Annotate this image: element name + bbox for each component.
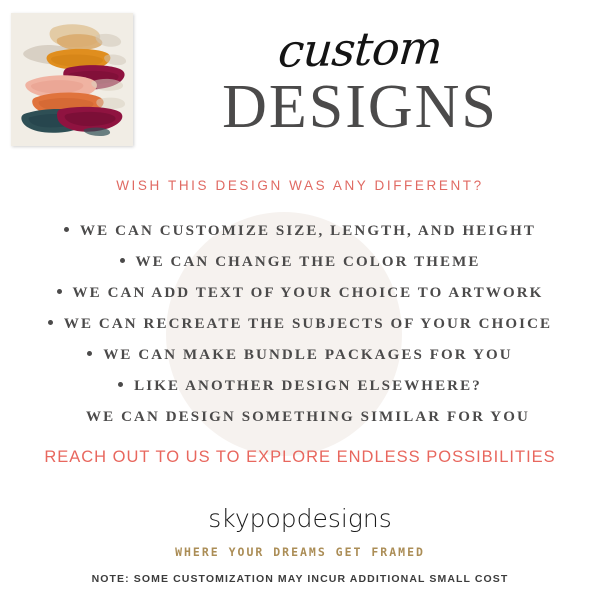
abstract-artwork-thumbnail[interactable]: [11, 13, 133, 146]
list-item: WE CAN CHANGE THE COLOR THEME: [0, 247, 600, 278]
list-item: LIKE ANOTHER DESIGN ELSEWHERE?: [0, 371, 600, 402]
list-item: WE CAN MAKE BUNDLE PACKAGES FOR YOU: [0, 340, 600, 371]
tagline-text: WISH THIS DESIGN WAS ANY DIFFERENT?: [0, 178, 600, 193]
footer-note: NOTE: SOME CUSTOMIZATION MAY INCUR ADDIT…: [0, 573, 600, 585]
footer-block: skypopdesigns WHERE YOUR DREAMS GET FRAM…: [0, 505, 600, 585]
headline-block: custom DESIGNS: [140, 28, 580, 138]
benefits-list: WE CAN CUSTOMIZE SIZE, LENGTH, AND HEIGH…: [0, 216, 600, 433]
brand-name: skypopdesigns: [0, 505, 600, 533]
bullet-dot-placeholder: [70, 413, 75, 418]
headline-serif-designs: DESIGNS: [140, 76, 580, 138]
call-to-action-text: REACH OUT TO US TO EXPLORE ENDLESS POSSI…: [0, 448, 600, 467]
abstract-brushstroke-icon: [11, 13, 133, 146]
list-item: WE CAN CUSTOMIZE SIZE, LENGTH, AND HEIGH…: [0, 216, 600, 247]
bullet-dot-icon: [118, 382, 123, 387]
list-item-label: WE CAN RECREATE THE SUBJECTS OF YOUR CHO…: [64, 316, 552, 332]
list-item-label: LIKE ANOTHER DESIGN ELSEWHERE?: [134, 378, 482, 394]
list-item: WE CAN ADD TEXT OF YOUR CHOICE TO ARTWOR…: [0, 278, 600, 309]
list-item-label: WE CAN ADD TEXT OF YOUR CHOICE TO ARTWOR…: [73, 285, 544, 301]
bullet-dot-icon: [48, 320, 53, 325]
list-item-label: WE CAN MAKE BUNDLE PACKAGES FOR YOU: [103, 347, 512, 363]
list-item-label: WE CAN CUSTOMIZE SIZE, LENGTH, AND HEIGH…: [80, 223, 536, 239]
list-item-label: WE CAN DESIGN SOMETHING SIMILAR FOR YOU: [86, 409, 530, 425]
poster-canvas: custom DESIGNS WISH THIS DESIGN WAS ANY …: [0, 0, 600, 600]
list-item: WE CAN RECREATE THE SUBJECTS OF YOUR CHO…: [0, 309, 600, 340]
bullet-dot-icon: [64, 227, 69, 232]
headline-script-custom: custom: [138, 23, 583, 76]
brand-slogan: WHERE YOUR DREAMS GET FRAMED: [0, 545, 600, 559]
list-item-label: WE CAN CHANGE THE COLOR THEME: [136, 254, 481, 270]
bullet-dot-icon: [87, 351, 92, 356]
bullet-dot-icon: [120, 258, 125, 263]
list-item-continuation: WE CAN DESIGN SOMETHING SIMILAR FOR YOU: [0, 402, 600, 433]
bullet-dot-icon: [57, 289, 62, 294]
